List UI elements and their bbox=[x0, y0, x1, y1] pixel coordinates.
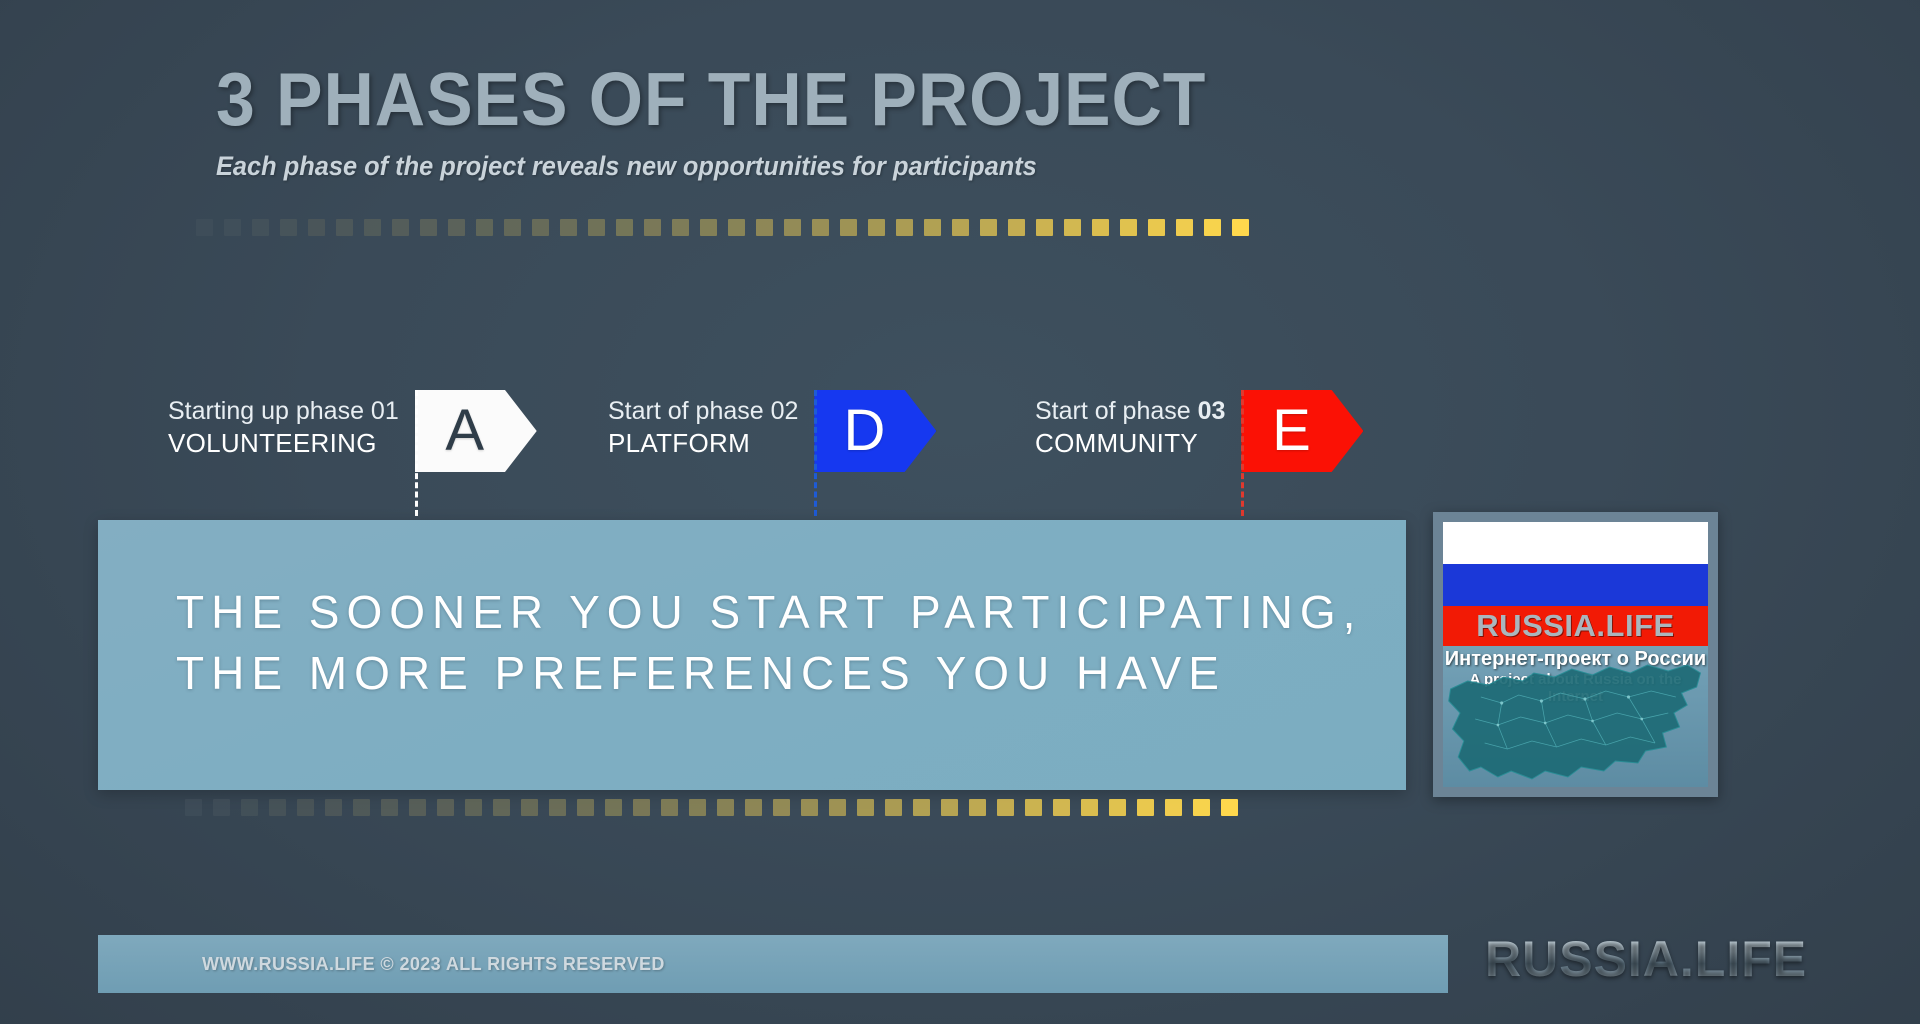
phase-flag-letter-01: A bbox=[445, 402, 484, 460]
brand-logo: RUSSIA.LIFE bbox=[1485, 930, 1807, 988]
phase-stem-02 bbox=[814, 390, 817, 516]
page-title: 3 PHASES OF THE PROJECT bbox=[216, 62, 1258, 137]
divider-dot bbox=[308, 219, 325, 236]
phase-flag-wrap-02: D bbox=[814, 390, 936, 472]
divider-dot bbox=[728, 219, 745, 236]
divider-dot bbox=[840, 219, 857, 236]
divider-dot bbox=[560, 219, 577, 236]
phase-stage-number-02: 02 bbox=[771, 397, 799, 425]
divider-dot bbox=[532, 219, 549, 236]
divider-dot bbox=[952, 219, 969, 236]
phase-label-02: Start of phase 02 PLATFORM bbox=[608, 390, 798, 461]
divider-dot bbox=[577, 799, 594, 816]
divider-dot bbox=[224, 219, 241, 236]
divider-dot bbox=[476, 219, 493, 236]
phase-flag-01[interactable]: A bbox=[415, 390, 537, 472]
phase-item-02[interactable]: Start of phase 02 PLATFORM D bbox=[608, 390, 936, 520]
divider-dot bbox=[1025, 799, 1042, 816]
phase-name-02: PLATFORM bbox=[608, 427, 798, 461]
divider-dot bbox=[381, 799, 398, 816]
divider-dot bbox=[465, 799, 482, 816]
banner-line-2: THE MORE PREFERENCES YOU HAVE bbox=[176, 643, 1406, 704]
phase-stem-03 bbox=[1241, 390, 1244, 516]
divider-dot bbox=[997, 799, 1014, 816]
divider-dot bbox=[1081, 799, 1098, 816]
phase-stage-prefix-03: Start of phase bbox=[1035, 397, 1198, 425]
divider-dot bbox=[745, 799, 762, 816]
divider-dot bbox=[1036, 219, 1053, 236]
divider-dot bbox=[269, 799, 286, 816]
phase-name-03: COMMUNITY bbox=[1035, 427, 1225, 461]
divider-dot bbox=[1232, 219, 1249, 236]
main-banner-inner: THE SOONER YOU START PARTICIPATING, THE … bbox=[98, 520, 1406, 703]
divider-dot bbox=[700, 219, 717, 236]
dotted-divider-bottom bbox=[185, 799, 1238, 816]
divider-dot bbox=[644, 219, 661, 236]
divider-dot bbox=[521, 799, 538, 816]
divider-dot bbox=[280, 219, 297, 236]
divider-dot bbox=[1109, 799, 1126, 816]
flag-stripe-blue bbox=[1443, 564, 1708, 606]
divider-dot bbox=[773, 799, 790, 816]
divider-dot bbox=[672, 219, 689, 236]
divider-dot bbox=[885, 799, 902, 816]
divider-dot bbox=[616, 219, 633, 236]
divider-dot bbox=[1221, 799, 1238, 816]
divider-dot bbox=[941, 799, 958, 816]
divider-dot bbox=[588, 219, 605, 236]
divider-dot bbox=[913, 799, 930, 816]
divider-dot bbox=[801, 799, 818, 816]
footer-bar: WWW.RUSSIA.LIFE © 2023 ALL RIGHTS RESERV… bbox=[98, 935, 1448, 993]
slide-root: 3 PHASES OF THE PROJECT Each phase of th… bbox=[0, 0, 1920, 1024]
phase-label-03: Start of phase 03 COMMUNITY bbox=[1035, 390, 1225, 461]
divider-dot bbox=[241, 799, 258, 816]
divider-dot bbox=[353, 799, 370, 816]
phase-label-01: Starting up phase 01 VOLUNTEERING bbox=[168, 390, 399, 461]
divider-dot bbox=[1120, 219, 1137, 236]
phase-stage-01: Starting up phase 01 bbox=[168, 396, 399, 427]
divider-dot bbox=[689, 799, 706, 816]
divider-dot bbox=[868, 219, 885, 236]
phase-row: Starting up phase 01 VOLUNTEERING A Star… bbox=[0, 390, 1920, 520]
phase-stem-01 bbox=[415, 390, 418, 516]
phase-item-01[interactable]: Starting up phase 01 VOLUNTEERING A bbox=[168, 390, 537, 520]
divider-dot bbox=[1176, 219, 1193, 236]
banner-line-1: THE SOONER YOU START PARTICIPATING, bbox=[176, 582, 1406, 643]
divider-dot bbox=[1165, 799, 1182, 816]
phase-stage-03: Start of phase 03 bbox=[1035, 396, 1225, 427]
divider-dot bbox=[717, 799, 734, 816]
dotted-divider-top bbox=[196, 219, 1249, 236]
phase-stage-number-01: 01 bbox=[371, 397, 399, 425]
russia-map-icon bbox=[1443, 637, 1708, 787]
main-banner: THE SOONER YOU START PARTICIPATING, THE … bbox=[98, 520, 1406, 790]
phase-stage-number-03: 03 bbox=[1198, 397, 1226, 425]
phase-stage-prefix-02: Start of phase bbox=[608, 397, 771, 425]
divider-dot bbox=[896, 219, 913, 236]
flag-stripe-white bbox=[1443, 522, 1708, 564]
phase-flag-02[interactable]: D bbox=[814, 390, 936, 472]
header: 3 PHASES OF THE PROJECT Each phase of th… bbox=[216, 62, 1336, 182]
phase-flag-wrap-03: E bbox=[1241, 390, 1363, 472]
divider-dot bbox=[213, 799, 230, 816]
footer-copyright: WWW.RUSSIA.LIFE © 2023 ALL RIGHTS RESERV… bbox=[202, 954, 665, 975]
divider-dot bbox=[924, 219, 941, 236]
divider-dot bbox=[784, 219, 801, 236]
divider-dot bbox=[857, 799, 874, 816]
divider-dot bbox=[829, 799, 846, 816]
russia-life-badge[interactable]: RUSSIA.LIFE Интернет-проект о России A p… bbox=[1433, 512, 1718, 797]
divider-dot bbox=[437, 799, 454, 816]
divider-dot bbox=[969, 799, 986, 816]
phase-stage-prefix-01: Starting up phase bbox=[168, 397, 371, 425]
divider-dot bbox=[1092, 219, 1109, 236]
phase-stage-02: Start of phase 02 bbox=[608, 396, 798, 427]
divider-dot bbox=[325, 799, 342, 816]
divider-dot bbox=[336, 219, 353, 236]
phase-flag-wrap-01: A bbox=[415, 390, 537, 472]
divider-dot bbox=[812, 219, 829, 236]
divider-dot bbox=[420, 219, 437, 236]
phase-name-01: VOLUNTEERING bbox=[168, 427, 399, 461]
divider-dot bbox=[1064, 219, 1081, 236]
page-subtitle: Each phase of the project reveals new op… bbox=[216, 151, 1269, 182]
divider-dot bbox=[493, 799, 510, 816]
divider-dot bbox=[1148, 219, 1165, 236]
divider-dot bbox=[364, 219, 381, 236]
divider-dot bbox=[392, 219, 409, 236]
divider-dot bbox=[633, 799, 650, 816]
divider-dot bbox=[1137, 799, 1154, 816]
badge-inner: RUSSIA.LIFE Интернет-проект о России A p… bbox=[1443, 522, 1708, 787]
divider-dot bbox=[1008, 219, 1025, 236]
divider-dot bbox=[980, 219, 997, 236]
phase-flag-03[interactable]: E bbox=[1241, 390, 1363, 472]
divider-dot bbox=[448, 219, 465, 236]
divider-dot bbox=[196, 219, 213, 236]
divider-dot bbox=[1053, 799, 1070, 816]
divider-dot bbox=[252, 219, 269, 236]
divider-dot bbox=[661, 799, 678, 816]
divider-dot bbox=[409, 799, 426, 816]
divider-dot bbox=[549, 799, 566, 816]
divider-dot bbox=[605, 799, 622, 816]
divider-dot bbox=[504, 219, 521, 236]
divider-dot bbox=[1204, 219, 1221, 236]
divider-dot bbox=[1193, 799, 1210, 816]
phase-item-03[interactable]: Start of phase 03 COMMUNITY E bbox=[1035, 390, 1363, 520]
divider-dot bbox=[185, 799, 202, 816]
divider-dot bbox=[297, 799, 314, 816]
divider-dot bbox=[756, 219, 773, 236]
phase-flag-letter-02: D bbox=[843, 402, 885, 460]
phase-flag-letter-03: E bbox=[1272, 402, 1311, 460]
